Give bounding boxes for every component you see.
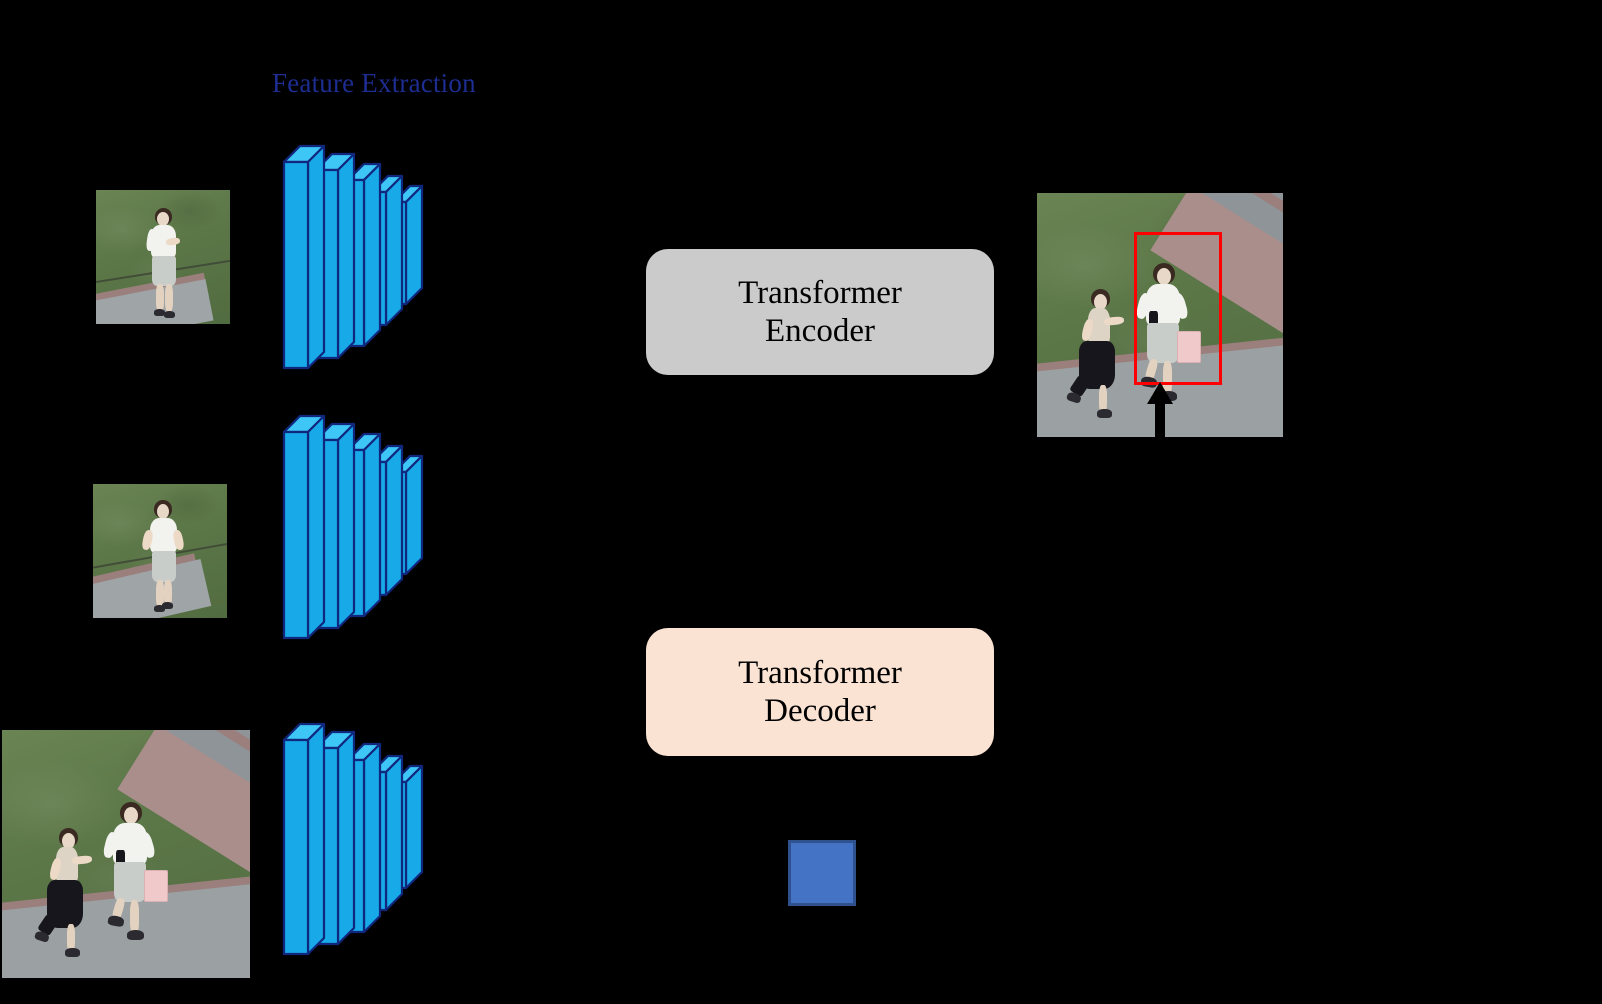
skirt [114, 862, 146, 902]
head [124, 807, 138, 824]
arm-right [166, 237, 181, 246]
diagram-canvas: Feature Extraction [0, 0, 1602, 1004]
input-frame-2 [93, 484, 227, 618]
leg-front [130, 900, 139, 934]
arm-left [72, 855, 93, 865]
handbag [144, 870, 168, 902]
skirt [152, 256, 176, 286]
shoe-back [107, 915, 124, 928]
shoe-right [164, 311, 175, 318]
cnn-backbone-bottom [282, 682, 452, 954]
person-1 [1067, 289, 1137, 421]
input-frame-3 [2, 730, 250, 978]
transformer-encoder-box[interactable]: Transformer Encoder [646, 249, 994, 375]
leg-left [156, 284, 164, 312]
cnn-slabs-svg [282, 106, 452, 368]
transformer-decoder-box[interactable]: Transformer Decoder [646, 628, 994, 756]
prediction-arrow [1142, 382, 1178, 444]
conv-slab-1 [284, 146, 324, 368]
cnn-backbone-top [282, 106, 452, 368]
encoder-label-line2: Encoder [765, 312, 875, 350]
arrow-up-icon [1142, 382, 1178, 444]
decoder-label-line2: Decoder [764, 692, 876, 730]
skirt [152, 551, 176, 582]
person-1 [141, 500, 187, 616]
head [157, 212, 169, 226]
arm-left [1104, 316, 1125, 326]
head [157, 504, 169, 519]
person-1 [143, 208, 187, 320]
person-2 [100, 802, 176, 952]
decoder-label-line1: Transformer [738, 654, 902, 692]
input-frame-1 [96, 190, 230, 324]
shoe-front [1097, 409, 1112, 418]
cnn-backbone-middle [282, 376, 452, 638]
scene-2 [93, 484, 227, 618]
cnn-slabs-svg [282, 376, 452, 638]
conv-slab-1 [284, 416, 324, 638]
cnn-slabs-svg [282, 682, 452, 954]
leg-right [165, 284, 173, 312]
scene-3 [2, 730, 250, 978]
shoe-right [162, 602, 173, 609]
detection-bounding-box [1134, 232, 1222, 385]
person-1 [35, 828, 105, 960]
shoe-front [65, 948, 80, 957]
conv-slab-1 [284, 724, 324, 954]
page-title: Feature Extraction [272, 68, 476, 99]
encoder-label-line1: Transformer [738, 274, 902, 312]
query-embedding-token[interactable] [788, 840, 856, 906]
scene-1 [96, 190, 230, 324]
shoe-front [127, 930, 144, 940]
